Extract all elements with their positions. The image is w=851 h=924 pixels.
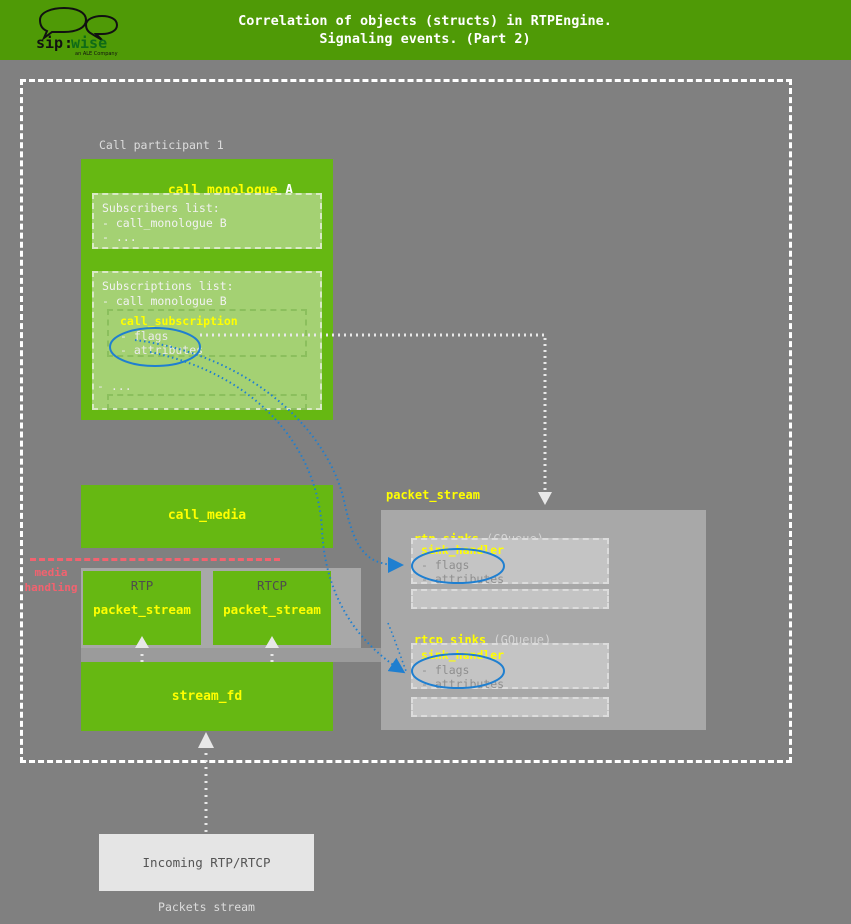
rtp-sink-handler-flags: - flags bbox=[421, 558, 469, 573]
stream-fd-box[interactable]: stream_fd bbox=[81, 662, 333, 731]
page-title: Correlation of objects (structs) in RTPE… bbox=[160, 0, 690, 60]
call-subscription-title: call_subscription bbox=[120, 314, 238, 328]
page-header: sip : wise an ALE Company Correlation of… bbox=[0, 0, 851, 60]
sipwise-logo: sip : wise an ALE Company bbox=[30, 4, 130, 56]
rtcp-sink-handler-attributes: - attributes bbox=[421, 677, 504, 692]
stream-fd-title: stream_fd bbox=[81, 689, 333, 704]
svg-text:sip: sip bbox=[36, 34, 63, 52]
logo-tagline-text: an ALE Company bbox=[75, 51, 118, 56]
packets-stream-caption: Packets stream bbox=[99, 900, 314, 914]
rtp-packet-stream-box[interactable]: RTP packet_stream bbox=[83, 571, 201, 645]
stream-fd-container bbox=[81, 648, 381, 662]
rtp-sink-handler-placeholder bbox=[411, 589, 609, 609]
media-handling-divider bbox=[30, 558, 280, 561]
rtp-sink-handler-attributes: - attributes bbox=[421, 572, 504, 587]
rtp-kind-label: RTP bbox=[83, 578, 201, 593]
rtcp-packet-stream-box[interactable]: RTCP packet_stream bbox=[213, 571, 331, 645]
subscribers-heading: Subscribers list: bbox=[102, 201, 312, 216]
subscribers-item-1: - ... bbox=[102, 230, 312, 245]
subscribers-list-panel: Subscribers list: - call_monologue B - .… bbox=[92, 193, 322, 249]
rtp-struct-label: packet_stream bbox=[83, 602, 201, 617]
call-media-title: call_media bbox=[81, 508, 333, 523]
rtcp-sink-handler-card[interactable]: sink_handler - flags - attributes bbox=[411, 643, 609, 689]
page-title-line2: Signaling events. (Part 2) bbox=[319, 30, 530, 48]
page-title-line1: Correlation of objects (structs) in RTPE… bbox=[238, 12, 612, 30]
subscriptions-item-1: - ... bbox=[97, 379, 132, 394]
rtp-sink-handler-card[interactable]: sink_handler - flags - attributes bbox=[411, 538, 609, 584]
call-media-box[interactable]: call_media bbox=[81, 485, 333, 548]
call-subscription-flags: - flags bbox=[120, 329, 168, 344]
media-handling-label: media handling bbox=[18, 565, 84, 595]
rtcp-sink-handler-flags: - flags bbox=[421, 663, 469, 678]
call-participant-label: Call participant 1 bbox=[99, 138, 224, 152]
subscriptions-heading: Subscriptions list: bbox=[102, 279, 312, 294]
packet-stream-panel-label: packet_stream bbox=[386, 488, 480, 502]
rtcp-sink-handler-title: sink_handler bbox=[421, 648, 504, 662]
diagram-page: sip : wise an ALE Company Correlation of… bbox=[0, 0, 851, 924]
subscriptions-item-0: - call monologue B bbox=[102, 294, 312, 309]
rtcp-sink-handler-placeholder bbox=[411, 697, 609, 717]
subscribers-item-0: - call_monologue B bbox=[102, 216, 312, 231]
rtcp-struct-label: packet_stream bbox=[213, 602, 331, 617]
call-subscription-attributes: - attributes bbox=[120, 343, 203, 358]
call-subscription-placeholder-card bbox=[107, 394, 307, 410]
rtp-sink-handler-title: sink_handler bbox=[421, 543, 504, 557]
sipwise-logo-icon: sip : wise an ALE Company bbox=[30, 4, 130, 56]
svg-text:wise: wise bbox=[71, 34, 107, 52]
rtcp-kind-label: RTCP bbox=[213, 578, 331, 593]
incoming-packets-box: Incoming RTP/RTCP bbox=[99, 834, 314, 891]
